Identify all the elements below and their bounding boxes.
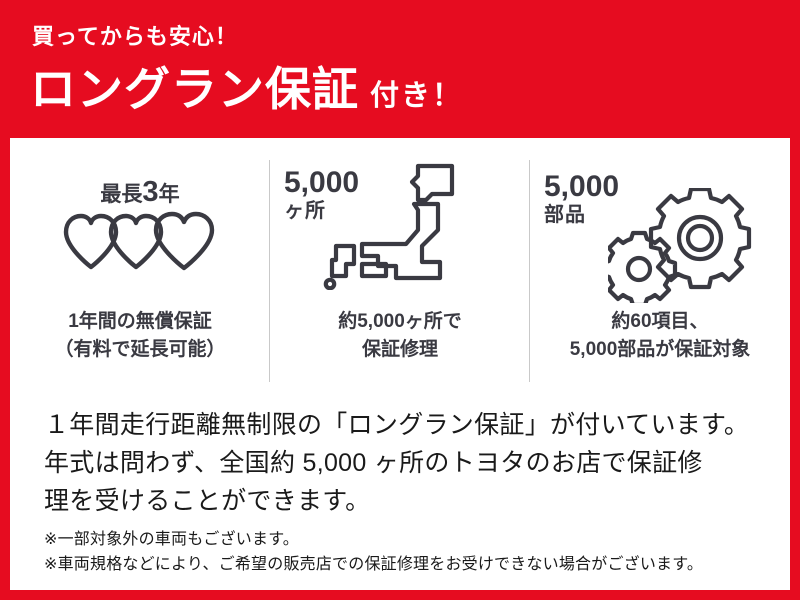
feature-caption: 1年間の無償保証 （有料で延長可能） bbox=[54, 308, 225, 363]
header-banner: 買ってからも安心！ ロングラン保証 付き！ bbox=[0, 0, 800, 138]
headline-main-text: ロングラン保証 bbox=[30, 66, 359, 112]
body-paragraph: １年間走行距離無制限の「ロングラン保証」が付いています。 年式は問わず、全国約 … bbox=[44, 406, 768, 520]
header-headline: ロングラン保証 付き！ bbox=[30, 66, 463, 112]
feature-caption: 約5,000ヶ所で 保証修理 bbox=[338, 308, 462, 363]
feature-icon-area: 5,000ヶ所 bbox=[270, 154, 530, 304]
warranty-advertisement: 買ってからも安心！ ロングラン保証 付き！ 最長3年 bbox=[0, 0, 800, 600]
gears-icon bbox=[608, 188, 758, 303]
footnotes: ※一部対象外の車両もございます。 ※車両規格などにより、ご希望の販売店での保証修… bbox=[44, 528, 774, 578]
three-hearts-icon bbox=[60, 210, 220, 272]
header-kicker: 買ってからも安心！ bbox=[32, 26, 238, 48]
feature-caption: 約60項目、 5,000部品が保証対象 bbox=[570, 308, 751, 363]
feature-warranty-period: 最長3年 1年間の無償保証 （有料で延長可能） bbox=[10, 154, 270, 394]
feature-icon-area: 5,000部品 bbox=[530, 154, 790, 304]
value-number: 3 bbox=[142, 176, 158, 208]
feature-covered-parts: 5,000部品 bbox=[530, 154, 790, 394]
feature-icon-area: 最長3年 bbox=[10, 154, 270, 304]
feature-columns: 最長3年 1年間の無償保証 （有料で延長可能） 5,000ヶ所 bbox=[10, 154, 790, 394]
feature-value-label: 最長3年 bbox=[100, 178, 179, 207]
feature-service-locations: 5,000ヶ所 bbox=[270, 154, 530, 394]
value-suffix: 年 bbox=[159, 183, 180, 206]
headline-suffix-text: 付き！ bbox=[370, 82, 463, 111]
japan-map-icon bbox=[322, 160, 462, 290]
content-panel: 最長3年 1年間の無償保証 （有料で延長可能） 5,000ヶ所 bbox=[10, 138, 790, 590]
value-prefix: 最長 bbox=[100, 183, 142, 206]
